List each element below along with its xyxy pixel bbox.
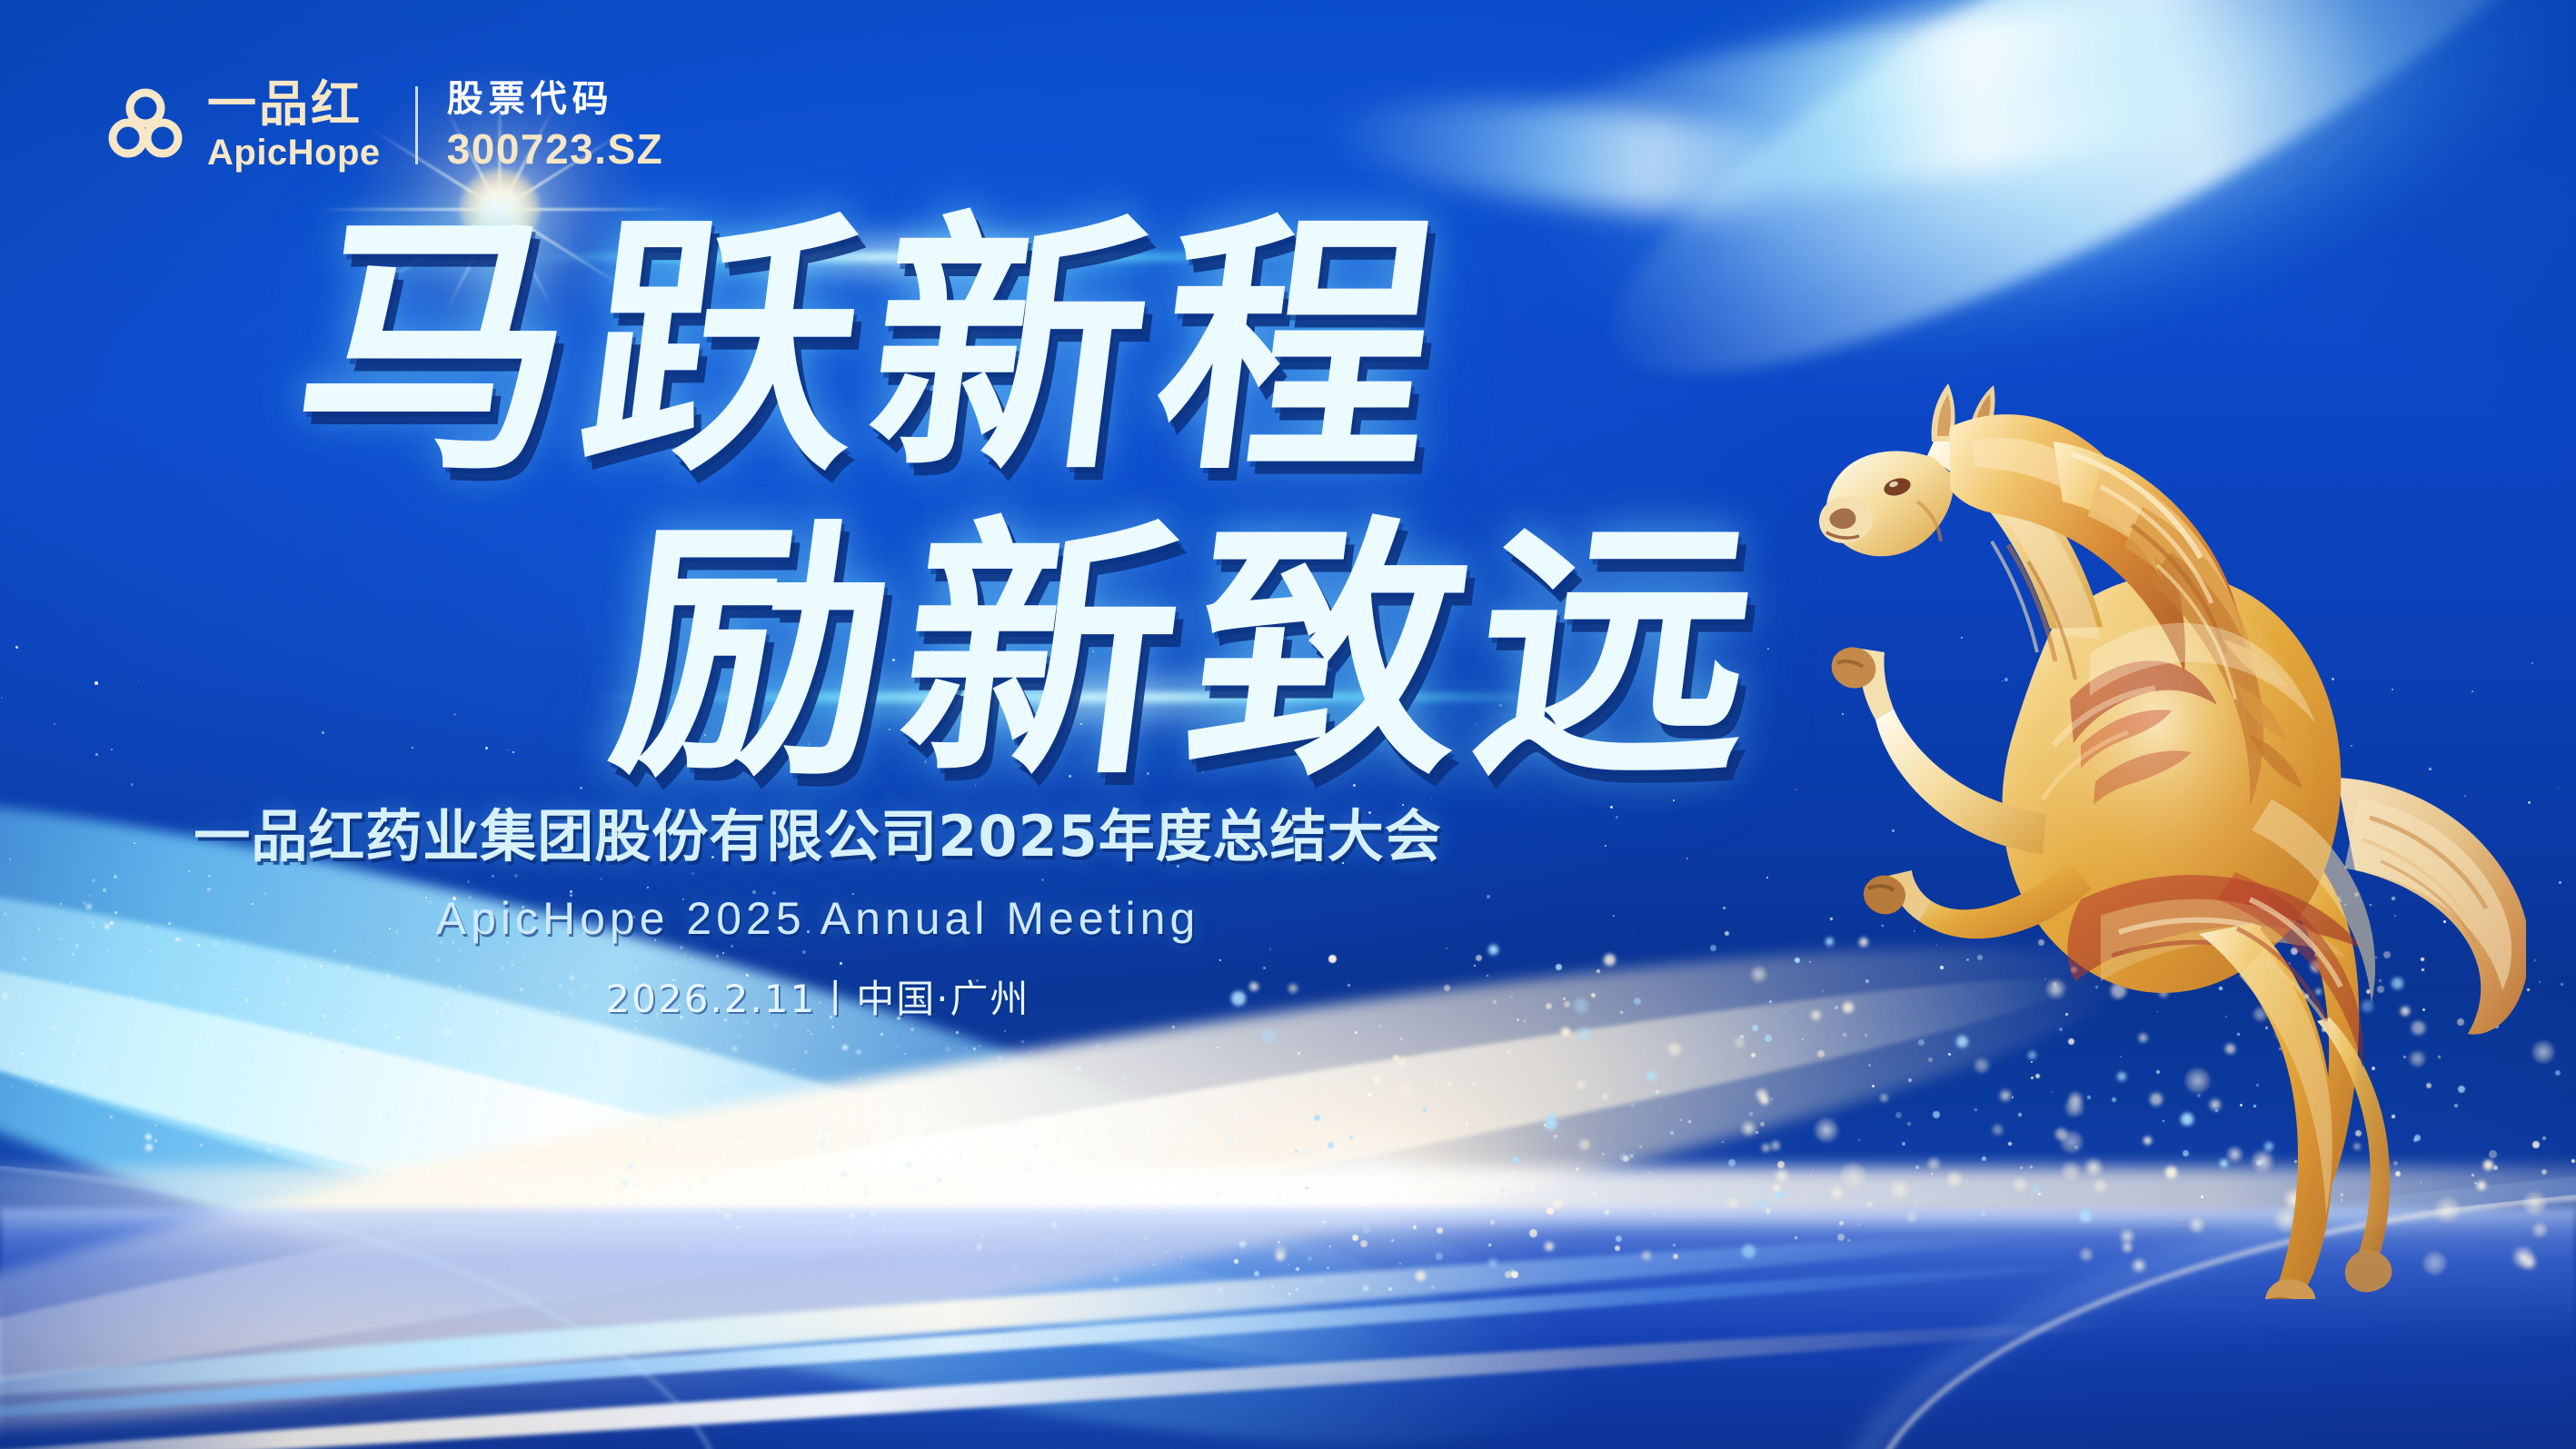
star-speck bbox=[569, 1167, 570, 1168]
sparkle-particle bbox=[1265, 1277, 1266, 1278]
star-speck bbox=[566, 1121, 568, 1123]
bokeh-particle bbox=[1725, 931, 1729, 936]
sparkle-particle bbox=[247, 1107, 250, 1110]
sparkle-particle bbox=[1190, 1120, 1194, 1124]
star-speck bbox=[2344, 904, 2346, 906]
sparkle-particle bbox=[849, 1213, 854, 1218]
bokeh-particle bbox=[1728, 1159, 1736, 1166]
bokeh-particle bbox=[1835, 1006, 1838, 1009]
sparkle-particle bbox=[1135, 1106, 1139, 1109]
sparkle-particle bbox=[970, 1156, 971, 1157]
sparkle-particle bbox=[1029, 1094, 1031, 1097]
sparkle-particle bbox=[512, 1142, 515, 1145]
bokeh-particle bbox=[2491, 988, 2496, 992]
star-speck bbox=[1577, 1082, 1580, 1085]
sparkle-particle bbox=[461, 1114, 462, 1116]
star-speck bbox=[1819, 651, 1820, 652]
bokeh-particle bbox=[1918, 1039, 1925, 1046]
aurora-wisp bbox=[1479, 0, 2310, 231]
sparkle-particle bbox=[1145, 1237, 1148, 1240]
bokeh-particle bbox=[2392, 1115, 2395, 1118]
sparkle-particle bbox=[312, 1160, 313, 1161]
bokeh-orb bbox=[2208, 1097, 2223, 1112]
bokeh-particle bbox=[1776, 1190, 1785, 1198]
sparkle-particle bbox=[540, 1164, 542, 1166]
bokeh-particle bbox=[1548, 1113, 1555, 1119]
dust-speck bbox=[68, 1046, 69, 1047]
sparkle-particle bbox=[611, 1180, 612, 1182]
sparkle-particle bbox=[848, 1233, 849, 1234]
bokeh-particle bbox=[2159, 988, 2168, 997]
sparkle-particle bbox=[973, 1047, 976, 1050]
sparkle-particle bbox=[941, 1071, 943, 1073]
sparkle-particle bbox=[50, 1079, 54, 1083]
sparkle-particle bbox=[811, 1104, 813, 1107]
sparkle-particle bbox=[758, 1203, 759, 1204]
dust-speck bbox=[591, 1030, 593, 1033]
star-speck bbox=[1466, 1122, 1468, 1125]
star-speck bbox=[2420, 1182, 2422, 1184]
brand-logo-block[interactable]: 一品红 ApicHope 股票代码 300723.SZ bbox=[107, 80, 663, 171]
sparkle-particle bbox=[552, 1083, 557, 1088]
headline-line-2: 励新致远 bbox=[602, 516, 1653, 789]
sparkle-particle bbox=[1280, 1195, 1282, 1196]
sparkle-particle bbox=[1337, 1209, 1338, 1211]
sparkle-particle bbox=[1272, 1082, 1274, 1084]
sparkle-particle bbox=[880, 1033, 883, 1036]
bokeh-particle bbox=[2306, 1167, 2312, 1174]
sparkle-particle bbox=[135, 1028, 139, 1032]
star-speck bbox=[2133, 840, 2136, 844]
bokeh-orb bbox=[2226, 1146, 2243, 1163]
bokeh-particle bbox=[2377, 986, 2384, 993]
sparkle-particle bbox=[445, 1116, 446, 1117]
bokeh-particle bbox=[1830, 918, 1833, 920]
bokeh-particle bbox=[1719, 1060, 1721, 1062]
dust-speck bbox=[707, 1047, 710, 1050]
bokeh-particle bbox=[2413, 1138, 2417, 1142]
bokeh-particle bbox=[1762, 1144, 1770, 1152]
star-speck bbox=[2335, 1027, 2337, 1028]
bokeh-orb bbox=[2079, 1247, 2094, 1262]
sparkle-particle bbox=[759, 1080, 761, 1082]
sparkle-particle bbox=[11, 1086, 13, 1087]
bokeh-particle bbox=[1866, 1201, 1873, 1207]
star-speck bbox=[292, 1185, 294, 1187]
sparkle-particle bbox=[701, 1179, 705, 1183]
bokeh-particle bbox=[1756, 1198, 1768, 1210]
sparkle-particle bbox=[677, 1209, 679, 1211]
bokeh-particle bbox=[1431, 1285, 1435, 1289]
bokeh-particle bbox=[1615, 1246, 1620, 1251]
sparkle-particle bbox=[911, 1184, 912, 1185]
bokeh-particle bbox=[2458, 1086, 2465, 1093]
brand-divider bbox=[415, 86, 418, 164]
bokeh-particle bbox=[1616, 1236, 1622, 1242]
bokeh-particle bbox=[2319, 1166, 2331, 1178]
sparkle-particle bbox=[1112, 1206, 1116, 1210]
bokeh-particle bbox=[1843, 1002, 1854, 1013]
star-speck bbox=[2394, 915, 2396, 917]
star-speck bbox=[1172, 1026, 1175, 1028]
bokeh-orb bbox=[1809, 1008, 1823, 1022]
sparkle-particle bbox=[724, 1097, 728, 1101]
sparkle-particle bbox=[816, 1194, 817, 1195]
bokeh-particle bbox=[2322, 1027, 2326, 1032]
sparkle-particle bbox=[888, 1206, 890, 1208]
bokeh-particle bbox=[1765, 1208, 1771, 1214]
bokeh-particle bbox=[1727, 1197, 1738, 1208]
bokeh-particle bbox=[2412, 1021, 2425, 1035]
star-speck bbox=[835, 1107, 836, 1107]
sparkle-particle bbox=[134, 1085, 136, 1087]
sparkle-particle bbox=[1329, 1246, 1331, 1247]
bokeh-particle bbox=[1629, 1154, 1634, 1158]
bokeh-particle bbox=[1965, 1179, 1968, 1182]
sparkle-particle bbox=[104, 1067, 108, 1071]
sparkle-particle bbox=[110, 1116, 113, 1118]
star-speck bbox=[2481, 856, 2483, 858]
sparkle-particle bbox=[502, 1039, 508, 1045]
sparkle-particle bbox=[830, 1199, 831, 1201]
bokeh-orb bbox=[2121, 1241, 2133, 1254]
bokeh-particle bbox=[1436, 1253, 1443, 1260]
bokeh-particle bbox=[2145, 937, 2150, 941]
dust-speck bbox=[12, 1051, 15, 1054]
sparkle-particle bbox=[958, 1085, 961, 1088]
star-speck bbox=[705, 1100, 708, 1103]
sparkle-particle bbox=[622, 1154, 623, 1156]
sparkle-particle bbox=[847, 1231, 849, 1233]
sparkle-particle bbox=[362, 1037, 366, 1042]
star-speck bbox=[906, 1118, 907, 1119]
sparkle-particle bbox=[1188, 1097, 1189, 1098]
sparkle-particle bbox=[588, 1170, 590, 1172]
sparkle-particle bbox=[763, 1071, 765, 1073]
bokeh-particle bbox=[1915, 1166, 1919, 1169]
sparkle-particle bbox=[1067, 1158, 1069, 1160]
star-speck bbox=[2156, 810, 2159, 813]
sparkle-particle bbox=[984, 1109, 986, 1111]
bokeh-particle bbox=[2087, 1096, 2091, 1099]
star-speck bbox=[535, 1087, 537, 1089]
bokeh-particle bbox=[2539, 981, 2541, 983]
sparkle-particle bbox=[1239, 1114, 1244, 1118]
sparkle-particle bbox=[910, 1027, 914, 1031]
sparkle-particle bbox=[1325, 1272, 1326, 1273]
right-arc-glow bbox=[1811, 1108, 2576, 1449]
sparkle-particle bbox=[897, 1046, 899, 1047]
bokeh-particle bbox=[2383, 951, 2391, 958]
bokeh-particle bbox=[1428, 1152, 1431, 1155]
sparkle-particle bbox=[795, 1170, 797, 1172]
bokeh-particle bbox=[1295, 1150, 1298, 1153]
sparkle-particle bbox=[1324, 1196, 1326, 1197]
sparkle-particle bbox=[1201, 1073, 1202, 1074]
star-speck bbox=[1795, 789, 1796, 790]
sparkle-particle bbox=[819, 1236, 820, 1236]
sparkle-particle bbox=[1239, 1241, 1246, 1247]
event-title-cn: 一品红药业集团股份有限公司2025年度总结大会 bbox=[0, 790, 1636, 872]
sparkle-particle bbox=[584, 1180, 589, 1185]
sparkle-particle bbox=[1073, 1111, 1074, 1112]
sparkle-particle bbox=[1041, 1128, 1042, 1129]
bokeh-particle bbox=[2379, 979, 2382, 982]
bokeh-orb bbox=[2084, 1157, 2104, 1177]
sparkle-particle bbox=[819, 1141, 825, 1147]
sparkle-particle bbox=[686, 1076, 687, 1077]
sparkle-particle bbox=[442, 1031, 445, 1035]
sparkle-particle bbox=[979, 1045, 980, 1047]
bokeh-particle bbox=[2215, 1109, 2218, 1112]
bokeh-particle bbox=[1639, 1146, 1642, 1148]
sparkle-particle bbox=[473, 1173, 478, 1177]
sparkle-particle bbox=[985, 1086, 987, 1087]
sparkle-particle bbox=[1103, 1151, 1104, 1152]
bokeh-particle bbox=[1688, 1120, 1691, 1123]
bokeh-particle bbox=[2340, 900, 2342, 902]
sparkle-particle bbox=[776, 1130, 778, 1132]
star-speck bbox=[2012, 1097, 2014, 1098]
bokeh-particle bbox=[2008, 911, 2014, 917]
sparkle-particle bbox=[959, 1152, 960, 1153]
star-speck bbox=[521, 1132, 523, 1135]
horizon-glow-band bbox=[0, 1167, 2576, 1224]
sparkle-particle bbox=[1218, 1288, 1222, 1292]
star-speck bbox=[1047, 1117, 1048, 1117]
event-banner: 一品红 ApicHope 股票代码 300723.SZ 马跃新程 励新致远 一品… bbox=[0, 0, 2576, 1449]
bokeh-particle bbox=[1751, 1053, 1755, 1057]
bokeh-particle bbox=[1254, 1271, 1259, 1276]
sparkle-particle bbox=[1155, 1074, 1156, 1075]
bokeh-orb bbox=[1774, 1167, 1790, 1184]
sparkle-particle bbox=[1351, 1081, 1352, 1082]
bokeh-particle bbox=[2246, 929, 2249, 932]
bokeh-orb bbox=[2409, 1050, 2426, 1067]
sparkle-particle bbox=[966, 1180, 968, 1182]
ground-streak-top bbox=[0, 1220, 2043, 1417]
bokeh-particle bbox=[1361, 1114, 1364, 1117]
bokeh-particle bbox=[1507, 1050, 1511, 1055]
star-speck bbox=[2452, 1165, 2453, 1166]
star-speck bbox=[2263, 828, 2265, 830]
sparkle-particle bbox=[1278, 1197, 1282, 1201]
bokeh-particle bbox=[1509, 1272, 1512, 1275]
bokeh-orb bbox=[1750, 966, 1767, 983]
sparkle-particle bbox=[232, 1047, 234, 1048]
bokeh-orb bbox=[2338, 1003, 2351, 1016]
sparkle-particle bbox=[486, 1099, 490, 1103]
star-speck bbox=[2464, 795, 2466, 797]
bokeh-particle bbox=[1398, 1084, 1410, 1096]
sparkle-particle bbox=[655, 1052, 658, 1055]
sparkle-particle bbox=[326, 1156, 331, 1160]
sparkle-particle bbox=[781, 1097, 782, 1098]
bokeh-particle bbox=[1413, 1226, 1417, 1229]
bokeh-particle bbox=[2403, 1056, 2406, 1058]
stock-label: 股票代码 bbox=[447, 81, 664, 117]
bokeh-particle bbox=[2527, 988, 2530, 991]
star-speck bbox=[200, 1054, 202, 1056]
bokeh-orb bbox=[2067, 1091, 2084, 1107]
sparkle-particle bbox=[1213, 1078, 1216, 1081]
sparkle-particle bbox=[239, 1130, 244, 1135]
sparkle-particle bbox=[502, 1181, 504, 1183]
bokeh-particle bbox=[2059, 1027, 2063, 1031]
bokeh-particle bbox=[2253, 978, 2255, 980]
sparkle-particle bbox=[45, 1087, 46, 1087]
bokeh-particle bbox=[2362, 1000, 2373, 1012]
bokeh-particle bbox=[1839, 1221, 1844, 1226]
sparkle-particle bbox=[1116, 1202, 1117, 1203]
bokeh-particle bbox=[1742, 1245, 1755, 1258]
sparkle-particle bbox=[1195, 1264, 1196, 1265]
bokeh-particle bbox=[1545, 1117, 1557, 1130]
bokeh-particle bbox=[2020, 1166, 2023, 1169]
sparkle-particle bbox=[1135, 1096, 1141, 1102]
ground-streak-bottom bbox=[0, 1311, 2133, 1449]
sparkle-particle bbox=[1014, 1123, 1019, 1127]
sparkle-particle bbox=[1193, 1112, 1195, 1114]
bokeh-particle bbox=[1593, 1191, 1596, 1195]
bokeh-orb bbox=[1945, 1170, 1964, 1188]
bokeh-particle bbox=[2336, 897, 2341, 901]
star-speck bbox=[2072, 685, 2075, 689]
bokeh-particle bbox=[1288, 1293, 1291, 1295]
bokeh-particle bbox=[2393, 1161, 2398, 1166]
dust-speck bbox=[804, 1050, 808, 1054]
bokeh-orb bbox=[2064, 1097, 2084, 1117]
sparkle-particle bbox=[870, 1210, 876, 1216]
bokeh-particle bbox=[2370, 904, 2372, 906]
star-speck bbox=[1779, 1149, 1780, 1150]
bokeh-particle bbox=[1670, 1131, 1674, 1135]
bokeh-particle bbox=[1668, 1043, 1681, 1056]
bokeh-particle bbox=[2094, 1180, 2106, 1192]
bokeh-particle bbox=[1825, 938, 1834, 946]
bokeh-particle bbox=[2375, 957, 2377, 958]
bokeh-particle bbox=[1735, 1037, 1745, 1047]
sparkle-particle bbox=[1327, 1266, 1329, 1269]
bokeh-orb bbox=[2422, 1251, 2447, 1275]
brand-wordmark: 一品红 ApicHope bbox=[207, 80, 381, 171]
sparkle-particle bbox=[937, 1177, 942, 1183]
sparkle-particle bbox=[434, 1112, 435, 1113]
sparkle-particle bbox=[824, 1126, 830, 1133]
bokeh-particle bbox=[1505, 1271, 1512, 1278]
star-speck bbox=[243, 1118, 244, 1119]
bokeh-particle bbox=[1982, 1156, 1986, 1161]
sparkle-particle bbox=[974, 1077, 979, 1082]
dust-speck bbox=[316, 1033, 320, 1037]
star-speck bbox=[2203, 849, 2205, 851]
bokeh-particle bbox=[2090, 922, 2097, 929]
sparkle-particle bbox=[339, 1169, 341, 1171]
sparkle-particle bbox=[791, 1115, 794, 1118]
bokeh-particle bbox=[1740, 1035, 1744, 1038]
sparkle-particle bbox=[1039, 1068, 1041, 1071]
star-speck bbox=[958, 1123, 960, 1126]
sparkle-particle bbox=[1153, 1264, 1155, 1265]
bokeh-particle bbox=[2180, 1176, 2182, 1177]
sparkle-particle bbox=[621, 1178, 623, 1181]
sparkle-particle bbox=[1060, 1236, 1061, 1236]
sparkle-particle bbox=[72, 1052, 75, 1056]
sparkle-particle bbox=[1283, 1077, 1286, 1079]
star-speck bbox=[508, 1126, 511, 1128]
bokeh-particle bbox=[2143, 1136, 2152, 1145]
sparkle-particle bbox=[792, 1068, 795, 1071]
sparkle-particle bbox=[384, 1025, 388, 1028]
sparkle-particle bbox=[1204, 1122, 1205, 1123]
sparkle-particle bbox=[842, 1045, 848, 1050]
bokeh-particle bbox=[1822, 990, 1824, 992]
bokeh-particle bbox=[1352, 1235, 1358, 1241]
bokeh-particle bbox=[1360, 1240, 1368, 1247]
sparkle-particle bbox=[982, 1235, 984, 1236]
sparkle-particle bbox=[426, 1102, 432, 1107]
bokeh-orb bbox=[2251, 1149, 2274, 1173]
sparkle-particle bbox=[758, 1126, 759, 1126]
sparkle-particle bbox=[1119, 1109, 1121, 1111]
sparkle-particle bbox=[1021, 1040, 1024, 1043]
sparkle-particle bbox=[1139, 1260, 1140, 1261]
bokeh-particle bbox=[1561, 1117, 1564, 1120]
bokeh-particle bbox=[1416, 1271, 1426, 1281]
sparkle-particle bbox=[926, 1129, 930, 1134]
star-speck bbox=[1842, 713, 1844, 715]
star-speck bbox=[21, 1052, 24, 1055]
sparkle-particle bbox=[622, 1180, 627, 1186]
star-speck bbox=[1686, 858, 1688, 859]
sparkle-particle bbox=[904, 1143, 906, 1145]
sparkle-particle bbox=[993, 1250, 994, 1251]
golden-horse-illustration bbox=[1781, 273, 2526, 1299]
star-speck bbox=[2340, 1193, 2343, 1196]
bokeh-particle bbox=[2071, 967, 2077, 973]
sparkle-particle bbox=[1248, 1133, 1250, 1136]
bokeh-particle bbox=[2030, 1166, 2033, 1168]
bokeh-particle bbox=[1511, 1271, 1518, 1278]
star-speck bbox=[1368, 1093, 1371, 1097]
bokeh-particle bbox=[2053, 982, 2057, 987]
bokeh-particle bbox=[2225, 1044, 2235, 1054]
bokeh-particle bbox=[1817, 1050, 1825, 1057]
sparkle-particle bbox=[688, 1187, 691, 1190]
bokeh-particle bbox=[2094, 918, 2096, 920]
bokeh-particle bbox=[1512, 1171, 1517, 1176]
bokeh-orb bbox=[1889, 1179, 1910, 1200]
bokeh-particle bbox=[2111, 983, 2126, 998]
bokeh-particle bbox=[1490, 1220, 1495, 1225]
ribbon-crossing-glow bbox=[1018, 1027, 1708, 1326]
bokeh-particle bbox=[1349, 1136, 1353, 1139]
star-speck bbox=[863, 1144, 865, 1146]
bokeh-particle bbox=[2204, 985, 2206, 987]
sparkle-particle bbox=[646, 1138, 650, 1142]
sparkle-particle bbox=[1303, 1203, 1305, 1205]
brand-name-cn: 一品红 bbox=[207, 80, 381, 129]
star-speck bbox=[2004, 678, 2008, 681]
sparkle-particle bbox=[976, 1107, 978, 1109]
bokeh-particle bbox=[2304, 994, 2309, 998]
sparkle-particle bbox=[333, 1073, 334, 1074]
bokeh-particle bbox=[2150, 1093, 2163, 1106]
sparkle-particle bbox=[596, 1052, 598, 1054]
stock-code: 300723.SZ bbox=[447, 128, 664, 170]
sparkle-particle bbox=[242, 1077, 244, 1079]
sparkle-particle bbox=[415, 1107, 416, 1108]
